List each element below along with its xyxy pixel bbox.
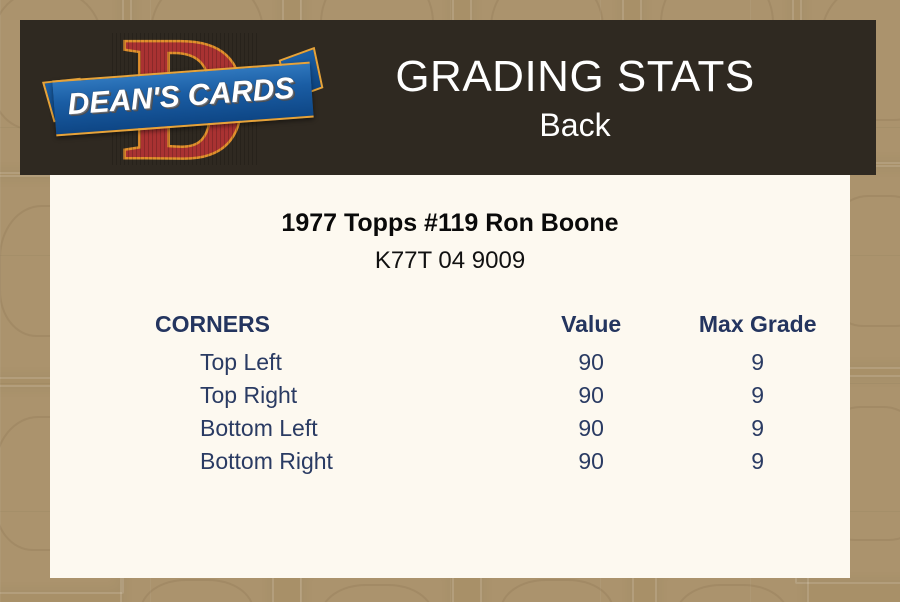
- grading-stats-table: CORNERS Value Max Grade Top Left 90 9 To…: [50, 311, 850, 478]
- table-row: Bottom Left 90 9: [50, 412, 850, 445]
- card-title: 1977 Topps #119 Ron Boone: [50, 207, 850, 239]
- row-value-top-right: 90: [517, 379, 666, 412]
- row-max-grade-top-right: 9: [665, 379, 850, 412]
- row-max-grade-bottom-right: 9: [665, 445, 850, 478]
- row-label-top-left: Top Left: [50, 346, 517, 379]
- table-head: CORNERS Value Max Grade: [50, 311, 850, 346]
- row-value-bottom-right: 90: [517, 445, 666, 478]
- header-titles: GRADING STATS Back: [314, 51, 876, 145]
- page-subtitle: Back: [314, 105, 836, 145]
- column-header-value: Value: [517, 311, 666, 346]
- table-row: Bottom Right 90 9: [50, 445, 850, 478]
- row-value-top-left: 90: [517, 346, 666, 379]
- row-value-bottom-left: 90: [517, 412, 666, 445]
- row-label-top-right: Top Right: [50, 379, 517, 412]
- column-header-max-grade: Max Grade: [665, 311, 850, 346]
- table-body: Top Left 90 9 Top Right 90 9 Bottom Left…: [50, 346, 850, 478]
- content-panel: 1977 Topps #119 Ron Boone K77T 04 9009 C…: [50, 175, 850, 578]
- table-header-row: CORNERS Value Max Grade: [50, 311, 850, 346]
- row-max-grade-bottom-left: 9: [665, 412, 850, 445]
- column-header-corners: CORNERS: [50, 311, 517, 346]
- card-serial-number: K77T 04 9009: [50, 246, 850, 276]
- table-row: Top Left 90 9: [50, 346, 850, 379]
- row-label-bottom-right: Bottom Right: [50, 445, 517, 478]
- logo-banner-text: DEAN'S CARDS: [50, 61, 311, 132]
- page-root: D D DEAN'S CARDS GRADING STATS Back 1977…: [0, 0, 900, 602]
- header-bar: D D DEAN'S CARDS GRADING STATS Back: [20, 20, 876, 175]
- row-label-bottom-left: Bottom Left: [50, 412, 517, 445]
- deans-cards-logo: D D DEAN'S CARDS: [52, 23, 314, 173]
- table-row: Top Right 90 9: [50, 379, 850, 412]
- row-max-grade-top-left: 9: [665, 346, 850, 379]
- page-title: GRADING STATS: [314, 51, 836, 103]
